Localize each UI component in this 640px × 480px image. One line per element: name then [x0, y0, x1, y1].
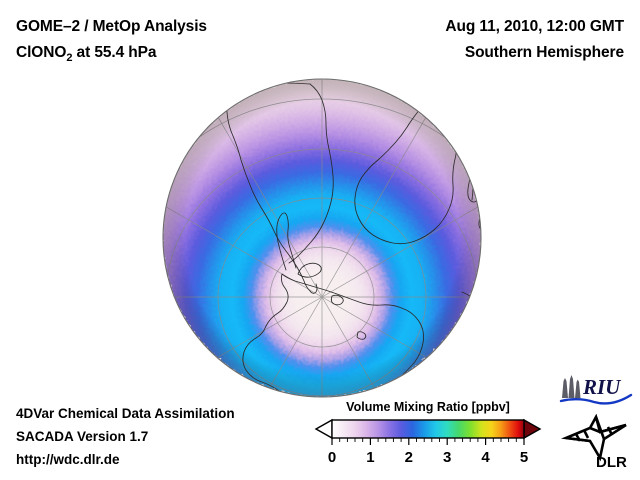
colorbar: Volume Mixing Ratio [ppbv] [312, 400, 544, 474]
riu-logo-towers [562, 375, 581, 398]
colorbar-low-arrow [316, 420, 332, 438]
website-url[interactable]: http://wdc.dlr.de [16, 448, 235, 471]
method-label: 4DVar Chemical Data Assimilation [16, 402, 235, 425]
species-name: ClONO [16, 44, 66, 61]
header-left: GOME–2 / MetOp Analysis ClONO2 at 55.4 h… [16, 14, 207, 71]
colorbar-tick-label: 5 [520, 449, 528, 466]
colorbar-tick-label: 3 [443, 449, 451, 466]
colorbar-tick-labels: 0 1 2 3 4 5 [328, 449, 528, 466]
data-field [162, 78, 482, 398]
colorbar-tick-label: 2 [405, 449, 413, 466]
colorbar-tick-label: 1 [366, 449, 374, 466]
limb-shading [163, 79, 481, 397]
dlr-logo-text: DLR [596, 454, 627, 470]
colorbar-gradient [332, 420, 524, 438]
colorbar-svg: 0 1 2 3 4 5 [312, 418, 544, 474]
riu-logo: RIU [558, 372, 634, 406]
version-label: SACADA Version 1.7 [16, 425, 235, 448]
coastline-newzealand [420, 374, 431, 398]
colorbar-tick-label: 0 [328, 449, 336, 466]
colorbar-high-arrow [524, 420, 540, 438]
visualization-page: GOME–2 / MetOp Analysis ClONO2 at 55.4 h… [0, 0, 640, 480]
dlr-logo: DLR [560, 414, 634, 470]
pressure-level: at 55.4 hPa [72, 44, 156, 61]
footer-text: 4DVar Chemical Data Assimilation SACADA … [16, 402, 235, 471]
colorbar-ticks [332, 438, 524, 445]
polar-map [162, 78, 482, 398]
colorbar-tick-label: 4 [481, 449, 490, 466]
riu-logo-text: RIU [582, 375, 622, 399]
header-right: Aug 11, 2010, 12:00 GMT Southern Hemisph… [445, 14, 624, 66]
analysis-title: GOME–2 / MetOp Analysis [16, 14, 207, 40]
colorbar-title: Volume Mixing Ratio [ppbv] [312, 400, 544, 414]
region-label: Southern Hemisphere [445, 40, 624, 66]
dlr-logo-mark [566, 417, 626, 458]
species-level-label: ClONO2 at 55.4 hPa [16, 40, 207, 71]
polar-stereographic-globe [162, 78, 482, 398]
timestamp-label: Aug 11, 2010, 12:00 GMT [445, 14, 624, 40]
